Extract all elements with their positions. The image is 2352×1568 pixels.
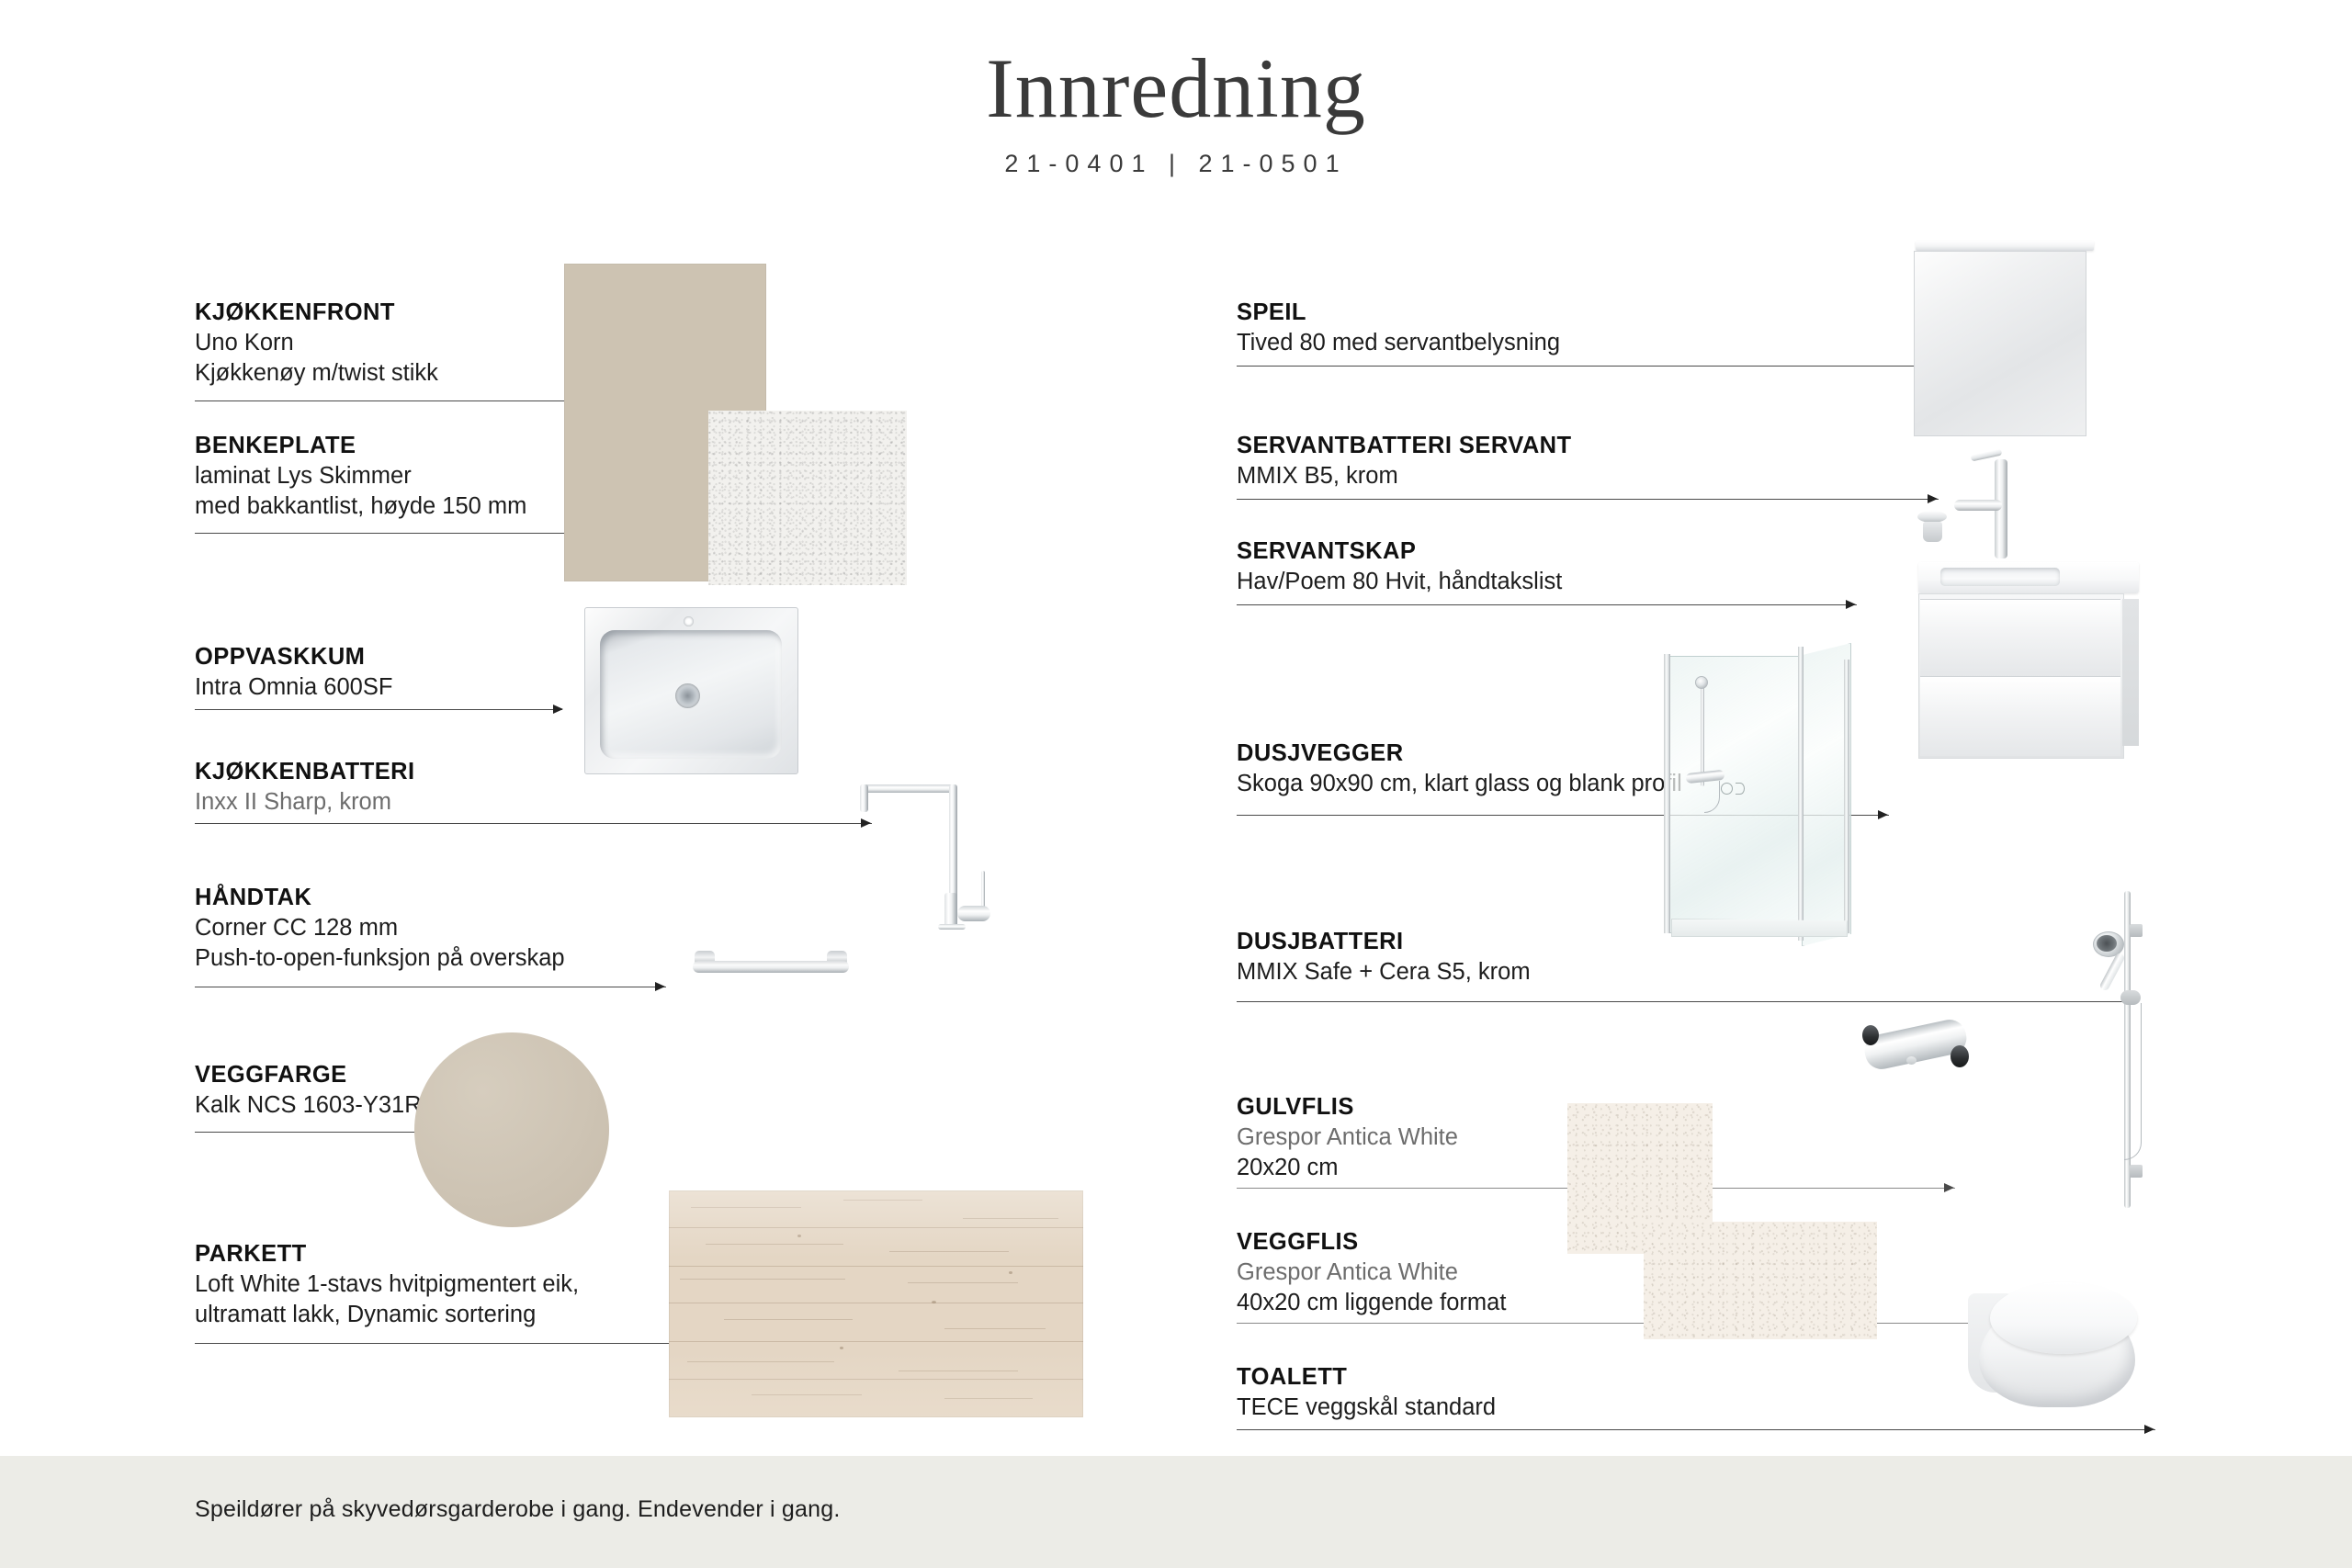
faucet-spout-drop [860,784,868,812]
spec-title: HÅNDTAK [195,884,565,913]
sink-tap-hole [684,616,694,626]
spec-dusjbatteri: DUSJBATTERI MMIX Safe + Cera S5, krom [1237,928,1531,987]
spec-title: TOALETT [1237,1363,1496,1393]
faucet-lever-boss [957,906,990,921]
mirror-light-strip [1916,241,2094,251]
shower-door-knob-left[interactable] [1721,783,1733,795]
shower-enclosure-image [1653,643,1855,955]
spec-title: SERVANTSKAP [1237,537,1562,567]
shower-mixer-cap-right[interactable] [1951,1045,1969,1067]
spec-title: DUSJVEGGER [1237,739,1682,769]
spec-sheet-page: Innredning 21-0401 | 21-0501 KJØKKENFRON… [0,0,2352,1568]
spec-line: 40x20 cm liggende format [1237,1288,1506,1318]
leader-line-speil [1237,366,1962,367]
shower-internal-handset [1695,676,1708,689]
leader-line-kjokkenbatteri [195,823,872,824]
drain-plug-body [1923,522,1942,542]
cabinet-handle-image [693,949,849,982]
spec-title: SERVANTBATTERI SERVANT [1237,432,1572,461]
spec-line: MMIX Safe + Cera S5, krom [1237,957,1531,987]
spec-title: SPEIL [1237,299,1560,328]
page-title: Innredning [0,0,2352,133]
leader-line-parkett [195,1343,694,1344]
page-subtitle: 21-0401 | 21-0501 [0,150,2352,178]
leader-line-dusjbatteri [1237,1001,2137,1002]
shower-post-left [1664,654,1670,933]
vanity-cabinet-side [2122,599,2139,746]
shower-front-glass [1666,656,1804,933]
spec-line: Loft White 1-stavs hvitpigmentert eik, [195,1269,579,1300]
hand-shower-face [2097,935,2117,952]
leader-line-servantbatteri [1237,499,1939,500]
hand-shower-handle [2098,952,2125,992]
spec-parkett: PARKETT Loft White 1-stavs hvitpigmenter… [195,1240,579,1330]
spec-line: Tived 80 med servantbelysning [1237,328,1560,358]
spec-dusjvegger: DUSJVEGGER Skoga 90x90 cm, klart glass o… [1237,739,1682,799]
mirror-glass [1914,251,2086,436]
shower-rail-image [2087,891,2170,1213]
spec-veggfarge: VEGGFARGE Kalk NCS 1603-Y31R [195,1061,422,1121]
toilet-seat-lid [1990,1282,2137,1354]
spec-line: TECE veggskål standard [1237,1393,1496,1423]
spec-title: BENKEPLATE [195,432,526,461]
spec-speil: SPEIL Tived 80 med servantbelysning [1237,299,1560,358]
spec-benkeplate: BENKEPLATE laminat Lys Skimmer med bakka… [195,432,526,522]
spec-line: ultramatt lakk, Dynamic sortering [195,1300,579,1330]
spec-toalett: TOALETT TECE veggskål standard [1237,1363,1496,1423]
spec-kjokkenbatteri: KJØKKENBATTERI Inxx II Sharp, krom [195,758,415,818]
spec-line: med bakkantlist, høyde 150 mm [195,491,526,522]
parquet-floor-swatch [669,1190,1083,1417]
spec-line: MMIX B5, krom [1237,461,1572,491]
basin-mixer-image [1906,450,2053,574]
leader-arrow-servantskap [1846,600,1856,609]
shower-mixer-outlet [1906,1056,1917,1065]
vanity-drawer-bottom[interactable] [1920,676,2120,756]
spec-title: PARKETT [195,1240,579,1269]
kitchen-sink-image [584,607,798,774]
wall-tile-swatch [1644,1222,1877,1339]
spec-line: Uno Korn [195,328,438,358]
toilet-image [1964,1269,2166,1435]
handle-bar [693,961,849,973]
vanity-drawer-top[interactable] [1920,599,2120,677]
spec-kjokkenfront: KJØKKENFRONT Uno Korn Kjøkkenøy m/twist … [195,299,438,389]
wall-colour-swatch [414,1032,609,1227]
spec-line: laminat Lys Skimmer [195,461,526,491]
leader-line-servantskap [1237,604,1857,605]
spec-handtak: HÅNDTAK Corner CC 128 mm Push-to-open-fu… [195,884,565,974]
spec-title: OPPVASKKUM [195,643,392,672]
faucet-foot [938,924,966,930]
spec-line: Inxx II Sharp, krom [195,787,415,818]
spec-veggflis: VEGGFLIS Grespor Antica White 40x20 cm l… [1237,1228,1506,1318]
shower-hose [2124,1003,2142,1160]
mirror-image [1914,241,2094,435]
leader-arrow-gulvflis [1944,1183,1954,1192]
spec-line: Intra Omnia 600SF [195,672,392,703]
shower-rail-bracket-top [2130,924,2143,937]
page-footer: Speildører på skyvedørsgarderobe i gang.… [0,1456,2352,1568]
spec-line: Kalk NCS 1603-Y31R [195,1090,422,1121]
spec-line: Grespor Antica White [1237,1122,1458,1153]
spec-line: Corner CC 128 mm [195,913,565,943]
basin-mixer-spout [1954,500,2002,511]
spec-line: Grespor Antica White [1237,1258,1506,1288]
spec-gulvflis: GULVFLIS Grespor Antica White 20x20 cm [1237,1093,1458,1183]
spec-line: Skoga 90x90 cm, klart glass og blank pro… [1237,769,1682,799]
spec-title: VEGGFARGE [195,1061,422,1090]
spec-line: 20x20 cm [1237,1153,1458,1183]
shower-door-knob-right[interactable] [1736,783,1745,795]
parquet-sheen [669,1190,1083,1417]
kitchen-faucet-image [854,772,1029,969]
shower-rail-bracket-bottom [2130,1165,2143,1178]
spec-servantbatteri: SERVANTBATTERI SERVANT MMIX B5, krom [1237,432,1572,491]
shower-post-right [1844,660,1849,933]
leader-arrow-handtak [655,982,665,991]
page-header: Innredning 21-0401 | 21-0501 [0,0,2352,178]
shower-mixer-cap-left[interactable] [1862,1025,1879,1045]
shower-mixer-image [1864,1007,1974,1080]
spec-title: DUSJBATTERI [1237,928,1531,957]
spec-line: Push-to-open-funksjon på overskap [195,943,565,974]
vanity-unit-image [1918,562,2139,757]
shower-post-middle [1798,647,1804,941]
faucet-top-arm [860,784,957,793]
vanity-basin-bowl [1940,568,2060,586]
spec-title: KJØKKENFRONT [195,299,438,328]
spec-line: Hav/Poem 80 Hvit, håndtakslist [1237,567,1562,597]
footer-note: Speildører på skyvedørsgarderobe i gang.… [195,1496,841,1523]
worktop-laminate-swatch [708,411,907,585]
leader-line-oppvaskkum [195,709,562,710]
spec-title: GULVFLIS [1237,1093,1458,1122]
shower-tray [1671,919,1848,937]
spec-servantskap: SERVANTSKAP Hav/Poem 80 Hvit, håndtaksli… [1237,537,1562,597]
leader-arrow-dusjvegger [1878,810,1888,819]
leader-line-handtak [195,987,666,987]
spec-oppvaskkum: OPPVASKKUM Intra Omnia 600SF [195,643,392,703]
leader-arrow-oppvaskkum [553,705,563,714]
sink-drain [675,683,700,708]
spec-title: VEGGFLIS [1237,1228,1506,1258]
spec-title: KJØKKENBATTERI [195,758,415,787]
spec-line: Kjøkkenøy m/twist stikk [195,358,438,389]
